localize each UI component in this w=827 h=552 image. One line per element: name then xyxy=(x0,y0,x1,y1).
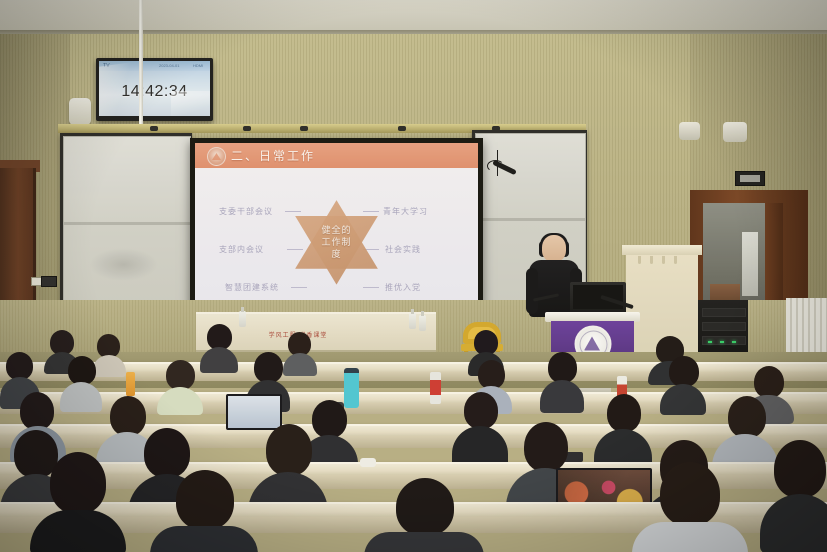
rail-clip-2 xyxy=(243,126,251,131)
rack-led-1 xyxy=(708,341,712,343)
person-b7 xyxy=(660,356,706,414)
control-panel-icon[interactable] xyxy=(41,276,57,287)
ceiling xyxy=(0,0,827,34)
person-c4 xyxy=(452,392,508,466)
wall-speaker-right xyxy=(679,122,700,140)
slide-connector-6 xyxy=(363,287,379,288)
slide-connector-3 xyxy=(291,287,307,288)
wall-tv-date: 2023-04-01 xyxy=(159,63,179,68)
lecture-hall-photo: TV 2023-04-01 HDMI 14:42:34 二、日常工作 支委干部会… xyxy=(0,0,827,552)
sanitizer-bottle-1 xyxy=(239,311,246,327)
eraser xyxy=(360,458,376,467)
person-e3 xyxy=(364,478,484,552)
person-e5 xyxy=(760,440,827,552)
door-right-window xyxy=(742,232,758,296)
slide-bullet-left-2: 支部内会议 xyxy=(219,244,264,255)
slide-bullet-right-3: 推优入党 xyxy=(385,282,421,293)
person-e1 xyxy=(30,452,126,552)
sanitizer-bottle-2 xyxy=(409,313,416,329)
organization-logo-icon xyxy=(207,147,226,166)
wall-speaker-right-2 xyxy=(723,122,747,142)
slide-bullet-right-1: 青年大学习 xyxy=(383,206,428,217)
presentation-slide: 二、日常工作 支委干部会议 支部内会议 智慧团建系统 青年大学习 社会实践 推优… xyxy=(195,143,478,311)
star-line-3: 度 xyxy=(293,248,381,260)
rail-clip-4 xyxy=(398,126,406,131)
slide-bullet-left-1: 支委干部会议 xyxy=(219,206,273,217)
person-b6 xyxy=(540,352,584,412)
projection-screen: 二、日常工作 支委干部会议 支部内会议 智慧团建系统 青年大学习 社会实践 推优… xyxy=(190,138,483,316)
slide-title: 二、日常工作 xyxy=(231,147,315,164)
slide-body: 支委干部会议 支部内会议 智慧团建系统 青年大学习 社会实践 推优入党 健全的 xyxy=(195,168,478,311)
hook-2 xyxy=(650,256,653,264)
whiteboard-left xyxy=(60,133,192,324)
exit-sign xyxy=(735,171,765,186)
hook-3 xyxy=(662,256,665,264)
shelf-items xyxy=(710,284,740,300)
wall-tv-screen: TV 2023-04-01 HDMI 14:42:34 xyxy=(99,61,210,116)
person-b3 xyxy=(157,360,203,412)
slide-bullet-left-3: 智慧团建系统 xyxy=(225,282,279,293)
person-a3 xyxy=(200,324,238,372)
sanitizer-bottle-3 xyxy=(419,315,426,331)
alcove-shelf xyxy=(622,245,702,255)
star-center-text: 健全的 工作制 度 xyxy=(293,224,381,260)
red-label-bottle xyxy=(430,372,441,404)
wall-tv[interactable]: TV 2023-04-01 HDMI 14:42:34 xyxy=(96,58,213,121)
hook-1 xyxy=(638,256,641,264)
wall-tv-meta: HDMI xyxy=(193,63,203,68)
screen-glare-2 xyxy=(171,91,210,116)
six-pointed-star-icon: 健全的 工作制 度 xyxy=(293,198,381,286)
star-line-1: 健全的 xyxy=(293,224,381,236)
rack-led-2 xyxy=(720,341,724,343)
hook-4 xyxy=(674,256,677,264)
person-e2 xyxy=(150,470,258,552)
rail-clip-1 xyxy=(150,126,158,131)
wall-speaker-left xyxy=(69,98,91,125)
rail-clip-3 xyxy=(300,126,308,131)
star-line-2: 工作制 xyxy=(293,236,381,248)
rack-led-3 xyxy=(732,341,736,343)
person-e4 xyxy=(632,462,748,552)
presenter-monitor xyxy=(570,282,626,314)
orange-juice-bottle xyxy=(126,372,135,396)
slide-bullet-right-2: 社会实践 xyxy=(385,244,421,255)
